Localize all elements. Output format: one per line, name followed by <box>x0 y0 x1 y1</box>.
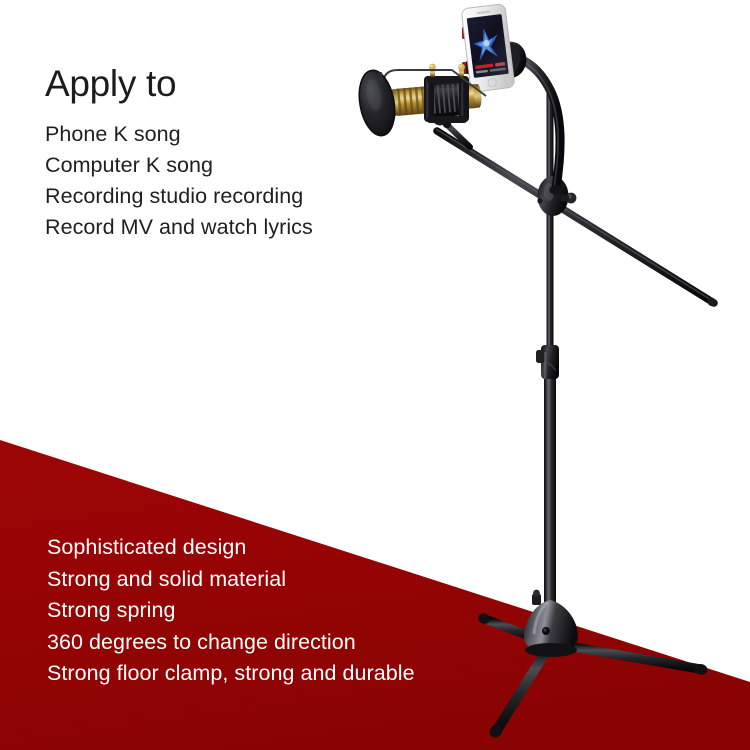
apply-to-list: Phone K song Computer K song Recording s… <box>45 119 425 243</box>
feature-item: Strong floor clamp, strong and durable <box>47 658 517 690</box>
apply-to-item: Record MV and watch lyrics <box>45 212 425 243</box>
phone-holder <box>462 26 526 87</box>
apply-to-section: Apply to Phone K song Computer K song Re… <box>45 64 425 243</box>
features-section: Sophisticated design Strong and solid ma… <box>47 532 517 690</box>
vertical-pole <box>544 92 556 618</box>
height-clamp <box>536 345 559 379</box>
boom-pivot-joint <box>537 176 576 216</box>
feature-item: 360 degrees to change direction <box>47 627 517 659</box>
apply-to-item: Recording studio recording <box>45 181 425 212</box>
apply-to-heading: Apply to <box>45 64 425 103</box>
mic-mount-arm <box>433 111 471 148</box>
apply-to-item: Phone K song <box>45 119 425 150</box>
product-feature-image: Apply to Phone K song Computer K song Re… <box>0 0 750 750</box>
smartphone <box>461 4 515 93</box>
gooseneck-arm <box>512 57 563 195</box>
feature-item: Strong spring <box>47 595 517 627</box>
boom-arm <box>436 129 718 308</box>
apply-to-item: Computer K song <box>45 150 425 181</box>
mic-grille <box>432 83 461 113</box>
feature-item: Strong and solid material <box>47 564 517 596</box>
shock-mount-thumbscrews <box>429 64 465 77</box>
tripod-leg-right <box>556 644 708 676</box>
feature-item: Sophisticated design <box>47 532 517 564</box>
phone-screen-content <box>471 26 506 73</box>
shock-mount <box>424 64 469 123</box>
